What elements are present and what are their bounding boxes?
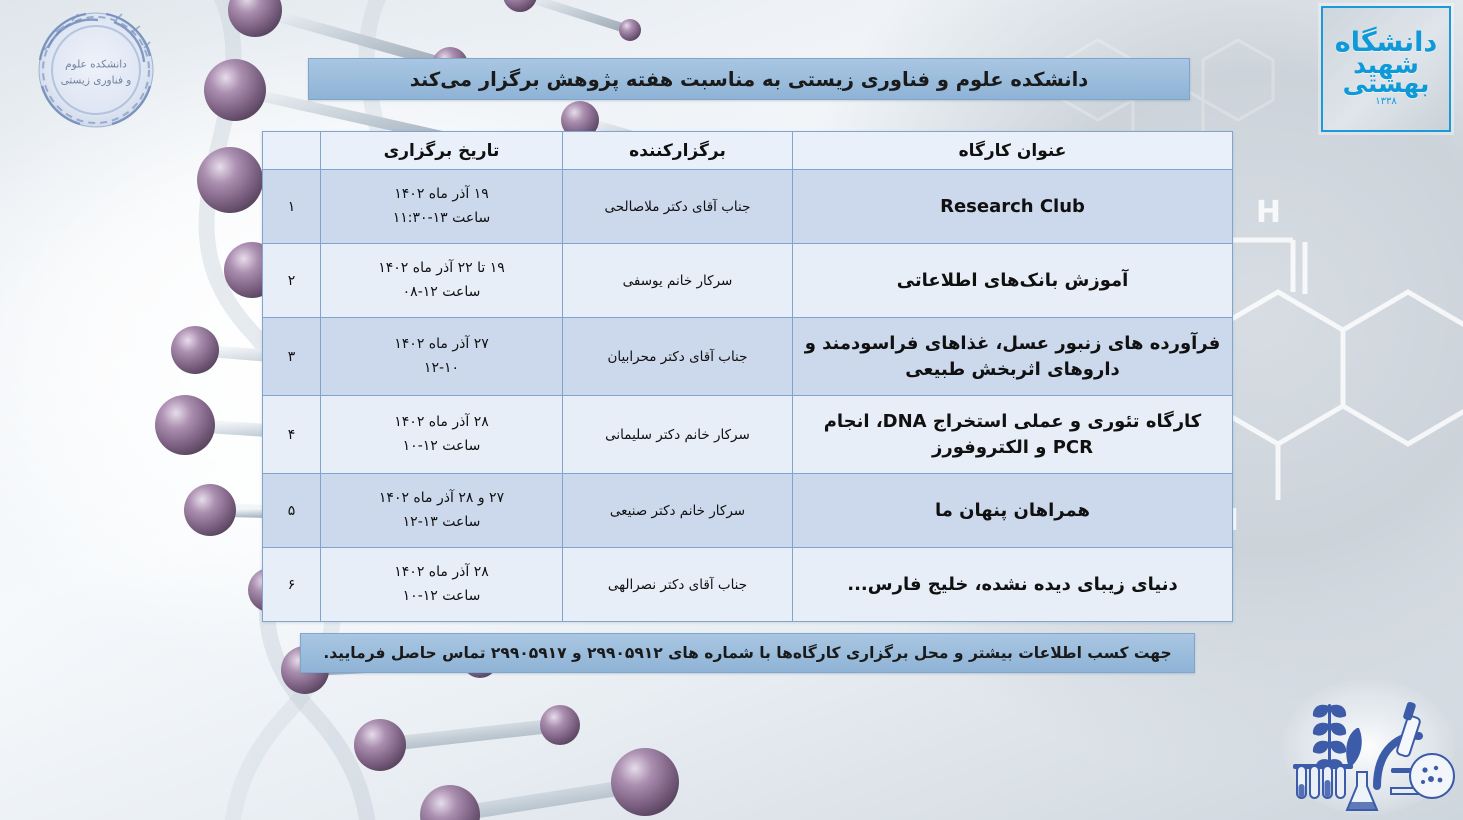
- cell-organizer: جناب آقای دکتر محرابیان: [563, 318, 793, 396]
- date-line-1: ۱۹ تا ۲۲ آذر ماه ۱۴۰۲: [329, 257, 554, 280]
- table-row: کارگاه تئوری و عملی استخراج DNA، انجام P…: [263, 396, 1233, 474]
- table-header-row: عنوان کارگاه برگزارکننده تاریخ برگزاری: [263, 132, 1233, 170]
- cell-organizer: جناب آقای دکتر نصرالهی: [563, 548, 793, 622]
- table-row: Research Club جناب آقای دکتر ملاصالحی ۱۹…: [263, 170, 1233, 244]
- contact-info-banner: جهت کسب اطلاعات بیشتر و محل برگزاری کارگ…: [300, 633, 1195, 673]
- logo-word-beheshti: بهشتی: [1343, 72, 1430, 95]
- cell-workshop-title: همراهان پنهان ما: [793, 474, 1233, 548]
- cell-row-number: ۱: [263, 170, 321, 244]
- logo-founding-year: ۱۳۳۸: [1375, 97, 1396, 106]
- faculty-seal-line2: و فناوری زیستی: [18, 73, 174, 89]
- date-line-1: ۲۸ آذر ماه ۱۴۰۲: [329, 411, 554, 434]
- cell-date: ۲۸ آذر ماه ۱۴۰۲ ساعت ۱۲-۱۰: [321, 548, 563, 622]
- date-line-2: ساعت ۱۲-۱۰: [329, 435, 554, 458]
- cell-workshop-title: دنیای زیبای دیده نشده، خلیج فارس...: [793, 548, 1233, 622]
- table-row: دنیای زیبای دیده نشده، خلیج فارس... جناب…: [263, 548, 1233, 622]
- cell-row-number: ۳: [263, 318, 321, 396]
- cell-workshop-title: کارگاه تئوری و عملی استخراج DNA، انجام P…: [793, 396, 1233, 474]
- cell-workshop-title: Research Club: [793, 170, 1233, 244]
- faculty-seal-line1: دانشکده علوم: [18, 57, 174, 73]
- date-line-2: ساعت ۱۳-۱۲: [329, 511, 554, 534]
- column-header-title: عنوان کارگاه: [793, 132, 1233, 170]
- date-line-2: ساعت ۱۲-۱۰: [329, 585, 554, 608]
- cell-organizer: سرکار خانم دکتر صنیعی: [563, 474, 793, 548]
- table-row: آموزش بانک‌های اطلاعاتی سرکار خانم یوسفی…: [263, 244, 1233, 318]
- cell-date: ۱۹ تا ۲۲ آذر ماه ۱۴۰۲ ساعت ۱۲-۰۸: [321, 244, 563, 318]
- cell-organizer: جناب آقای دکتر ملاصالحی: [563, 170, 793, 244]
- date-line-1: ۲۸ آذر ماه ۱۴۰۲: [329, 561, 554, 584]
- cell-date: ۱۹ آذر ماه ۱۴۰۲ ساعت ۱۳-۱۱:۳۰: [321, 170, 563, 244]
- cell-organizer: سرکار خانم یوسفی: [563, 244, 793, 318]
- table-row: همراهان پنهان ما سرکار خانم دکتر صنیعی ۲…: [263, 474, 1233, 548]
- poster-canvas: CH 3 H NH: [0, 0, 1463, 820]
- faculty-seal-text: دانشکده علوم و فناوری زیستی: [18, 57, 174, 90]
- cell-date: ۲۸ آذر ماه ۱۴۰۲ ساعت ۱۲-۱۰: [321, 396, 563, 474]
- science-illustration: [1279, 676, 1457, 818]
- column-header-organizer: برگزارکننده: [563, 132, 793, 170]
- cell-workshop-title: فرآورده های زنبور عسل، غذاهای فراسودمند …: [793, 318, 1233, 396]
- table-body: Research Club جناب آقای دکتر ملاصالحی ۱۹…: [263, 170, 1233, 622]
- cell-row-number: ۵: [263, 474, 321, 548]
- cell-row-number: ۴: [263, 396, 321, 474]
- title-banner: دانشکده علوم و فناوری زیستی به مناسبت هف…: [308, 58, 1190, 100]
- date-line-2: ساعت ۱۲-۰۸: [329, 281, 554, 304]
- petri-dish-icon: [1410, 754, 1454, 798]
- date-line-2: ساعت ۱۳-۱۱:۳۰: [329, 207, 554, 230]
- faculty-seal-logo: دانشکده علوم و فناوری زیستی: [18, 8, 174, 138]
- cell-date: ۲۷ و ۲۸ آذر ماه ۱۴۰۲ ساعت ۱۳-۱۲: [321, 474, 563, 548]
- date-line-1: ۱۹ آذر ماه ۱۴۰۲: [329, 183, 554, 206]
- cell-organizer: سرکار خانم دکتر سلیمانی: [563, 396, 793, 474]
- workshop-schedule-table: عنوان کارگاه برگزارکننده تاریخ برگزاری R…: [262, 131, 1233, 622]
- table-row: فرآورده های زنبور عسل، غذاهای فراسودمند …: [263, 318, 1233, 396]
- date-line-1: ۲۷ و ۲۸ آذر ماه ۱۴۰۲: [329, 487, 554, 510]
- cell-row-number: ۶: [263, 548, 321, 622]
- cell-workshop-title: آموزش بانک‌های اطلاعاتی: [793, 244, 1233, 318]
- date-line-2: ۱۲-۱۰: [329, 357, 554, 380]
- cell-date: ۲۷ آذر ماه ۱۴۰۲ ۱۲-۱۰: [321, 318, 563, 396]
- university-logo: دانشگاه شهید بهشتی ۱۳۳۸: [1321, 6, 1451, 132]
- column-header-number: [263, 132, 321, 170]
- column-header-date: تاریخ برگزاری: [321, 132, 563, 170]
- chem-label-h: H: [1256, 195, 1281, 230]
- date-line-1: ۲۷ آذر ماه ۱۴۰۲: [329, 333, 554, 356]
- cell-row-number: ۲: [263, 244, 321, 318]
